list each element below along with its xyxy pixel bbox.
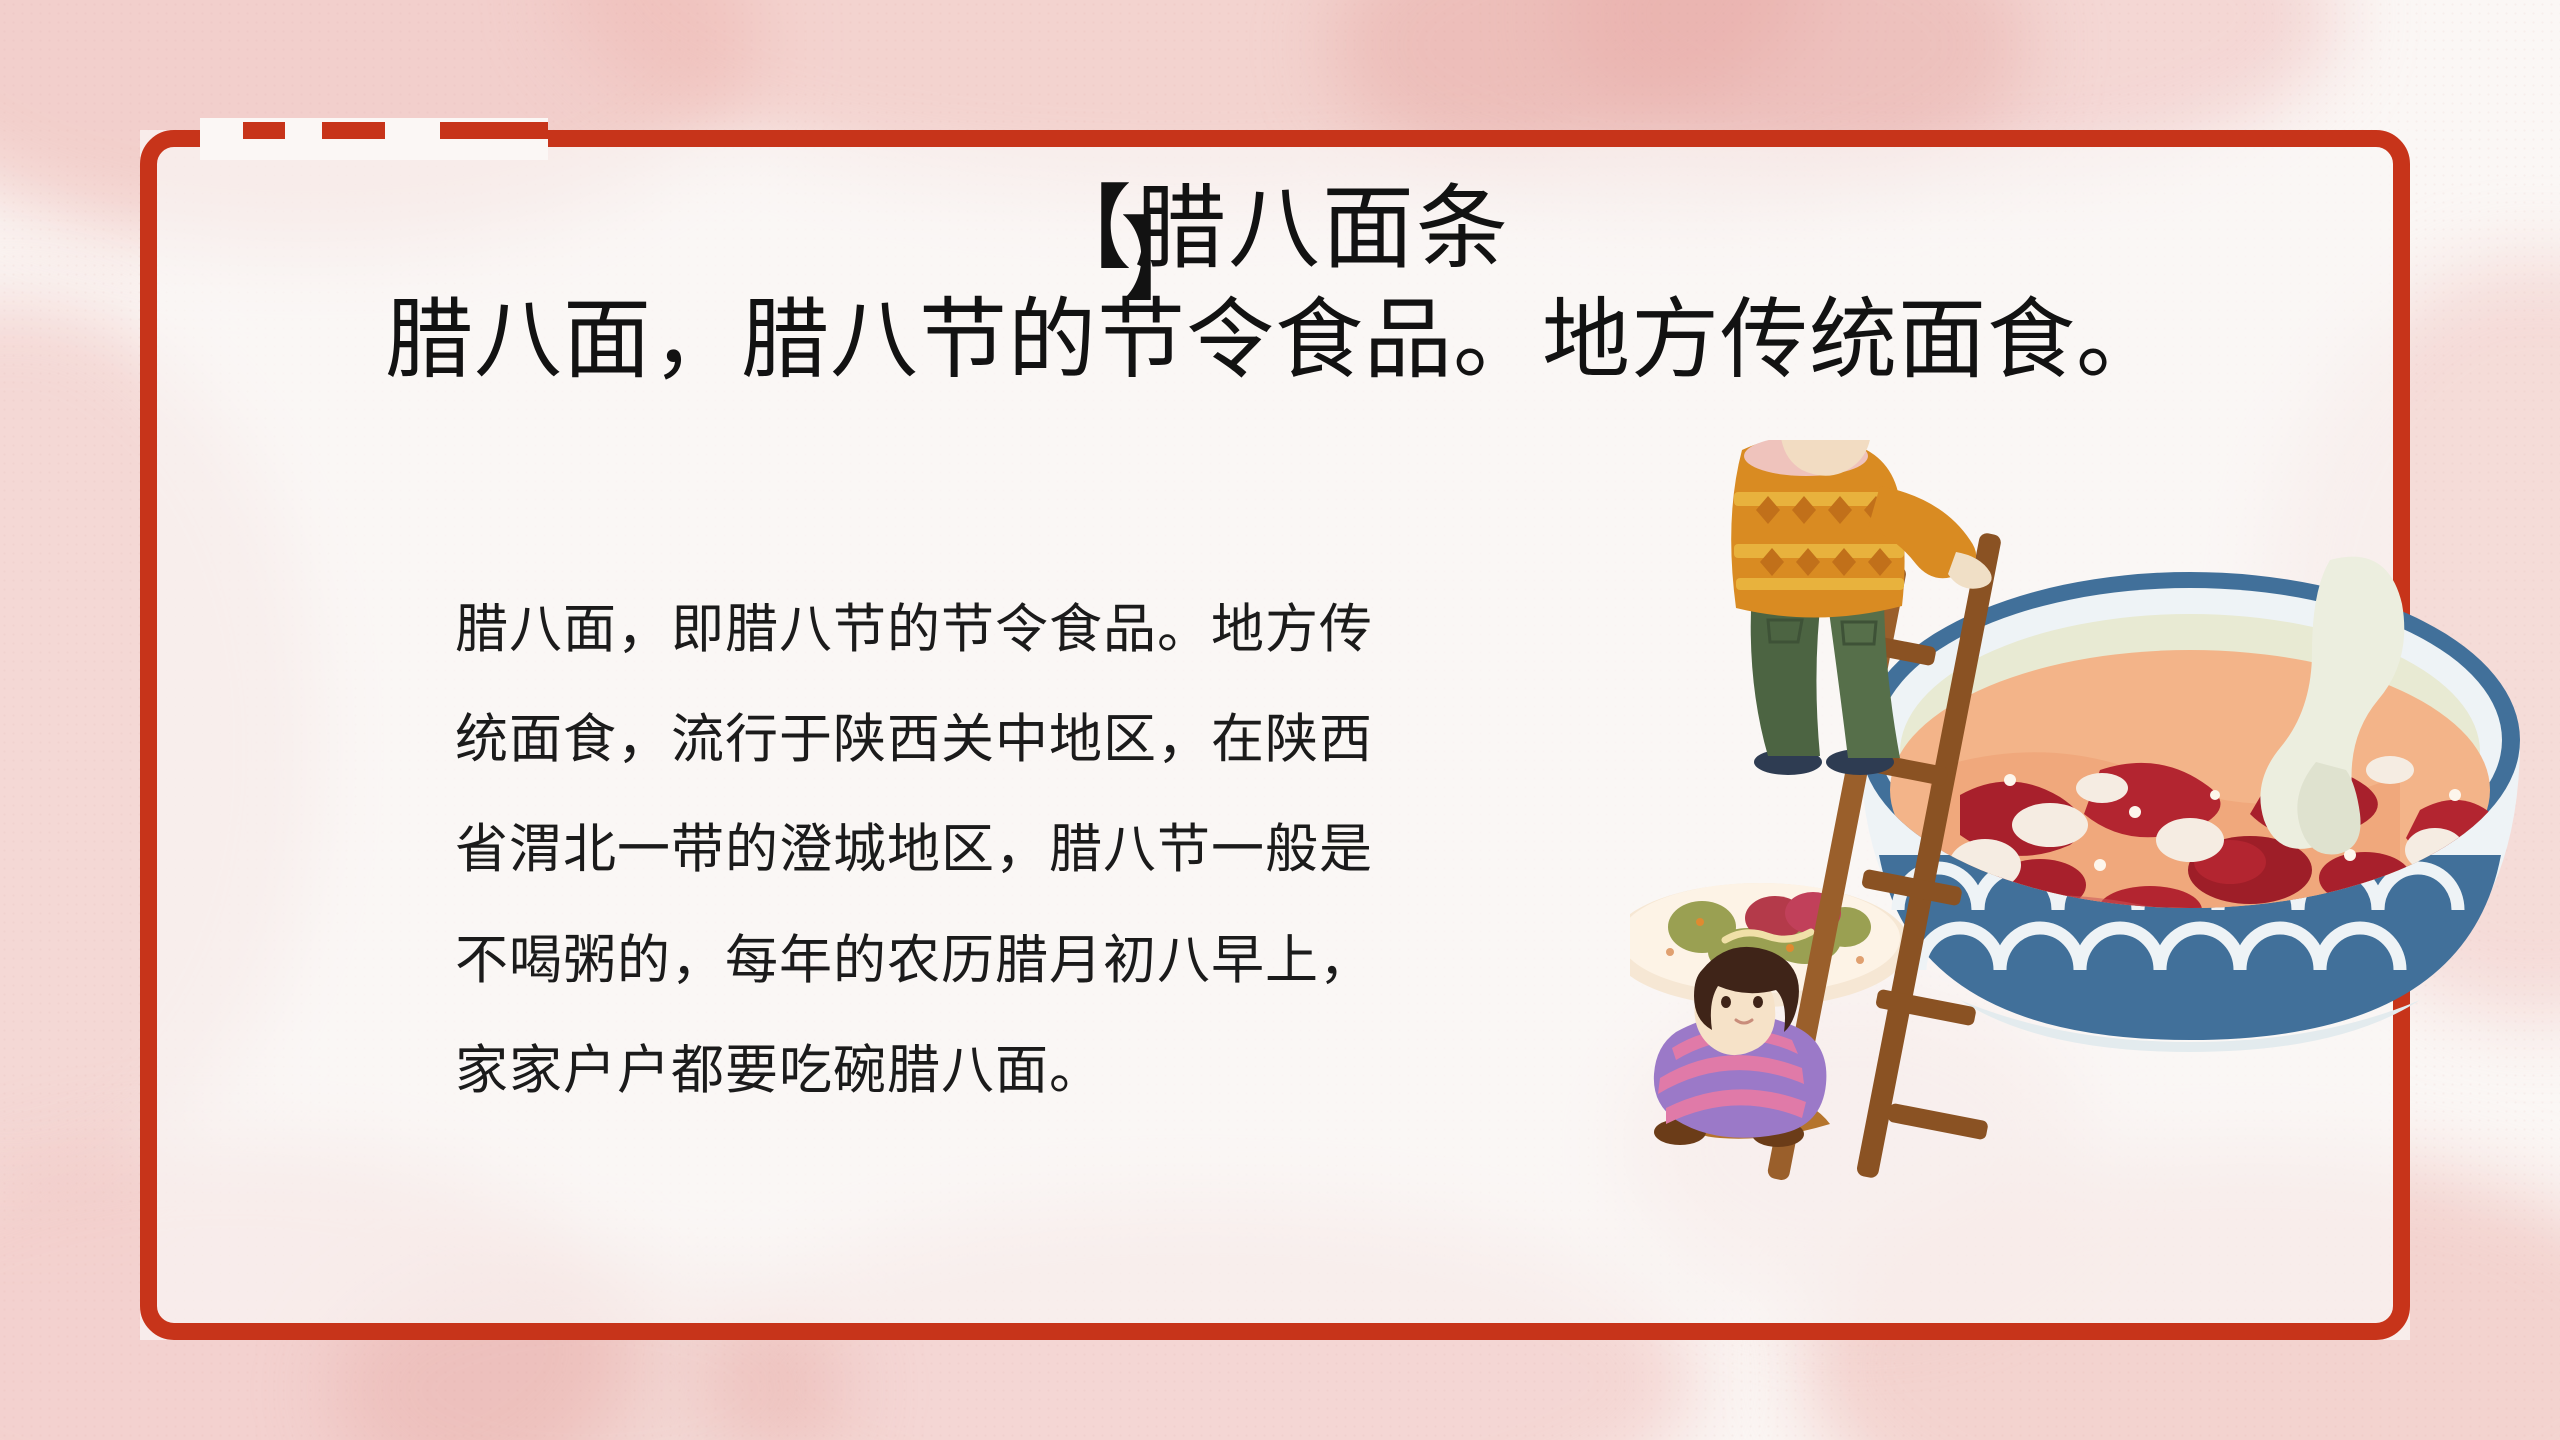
bracket-close: 】: [1120, 215, 1213, 307]
title-block: 【腊八面条 】 腊八面，腊八节的节令食品。地方传统面食。: [160, 180, 2390, 392]
body-line: 腊八面，即腊八节的节令食品。地方传: [455, 575, 1465, 685]
subtitle-text: 腊八面，腊八节的节令食品。地方传统面食。: [385, 293, 2165, 390]
frame-dash-segment: [243, 122, 285, 139]
body-line: 统面食，流行于陕西关中地区，在陕西: [455, 685, 1465, 795]
laba-noodle-bowl-illustration: [1630, 440, 2530, 1250]
frame-dash-segment: [322, 122, 385, 139]
page-title: 【腊八面条: [160, 180, 2390, 279]
body-line: 不喝粥的，每年的农历腊月初八早上，: [455, 906, 1465, 1016]
body-line: 省渭北一带的澄城地区，腊八节一般是: [455, 795, 1465, 905]
page-subtitle: 】 腊八面，腊八节的节令食品。地方传统面食。: [160, 293, 2390, 392]
frame-dash-segment: [440, 122, 548, 139]
body-paragraph: 腊八面，即腊八节的节令食品。地方传 统面食，流行于陕西关中地区，在陕西 省渭北一…: [455, 575, 1465, 1126]
body-line: 家家户户都要吃碗腊八面。: [455, 1016, 1465, 1126]
